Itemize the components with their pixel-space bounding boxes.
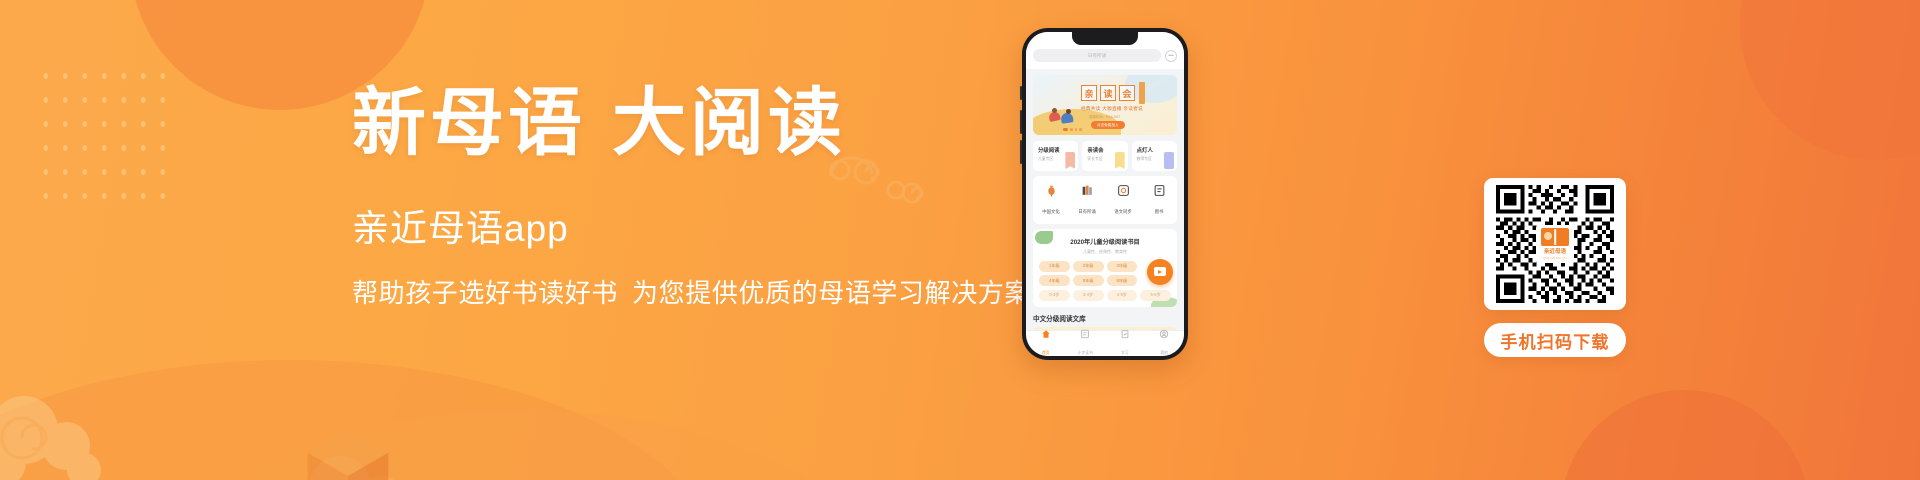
decorative-dot-grid — [36, 64, 174, 212]
grade-tag[interactable]: 1年级 — [1039, 261, 1070, 272]
search-bar[interactable]: 日有所诵 ••• — [1033, 49, 1177, 62]
age-tag[interactable]: 3-4岁 — [1073, 290, 1104, 301]
booklist-subtitle: 儿童性、经典性、教育性 — [1039, 249, 1171, 255]
promo-title-char-1: 读 — [1100, 85, 1116, 101]
qr-code[interactable]: 亲近母语 QIN JIN MU YU — [1491, 185, 1619, 303]
tab-study[interactable]: 学习 — [1105, 328, 1145, 356]
promo-title-char-0: 亲 — [1081, 85, 1097, 101]
bookmark-icon — [1115, 152, 1125, 169]
search-input[interactable]: 日有所诵 — [1033, 49, 1161, 62]
tab-profile[interactable]: 我的 — [1145, 328, 1185, 356]
phone-mockup: 日有所诵 ••• 亲 读 会 经典共读 大咖直播 亲读者说 直播时间：9/ — [1022, 28, 1188, 360]
grade-tag[interactable]: 2年级 — [1073, 261, 1104, 272]
grade-tag[interactable]: 6年级 — [1107, 275, 1138, 286]
grade-tag[interactable]: 4年级 — [1039, 275, 1070, 286]
tagline-part-2: 为您提供优质的母语学习解决方案 — [632, 278, 1031, 308]
book-icon — [1152, 183, 1166, 197]
promo-subtitle: 经典共读 大咖直播 亲读者说 — [1081, 106, 1143, 112]
decorative-leaf — [1035, 231, 1053, 244]
phone-notch — [1072, 32, 1138, 45]
quick-link-label: 中国文化 — [1042, 209, 1060, 214]
age-tag[interactable]: 4-5岁 — [1107, 290, 1138, 301]
video-play-icon[interactable] — [1147, 259, 1173, 285]
download-button[interactable]: 手机扫码下载 — [1484, 323, 1626, 357]
quick-link-chinese-culture[interactable]: 中国文化 — [1033, 183, 1069, 218]
promo-child-head-2 — [1066, 109, 1071, 114]
quick-links: 中国文化 日有所诵 — [1033, 176, 1177, 224]
decorative-circle-bottom-right — [1560, 390, 1810, 480]
tab-label: 我的 — [1160, 351, 1168, 355]
more-dots-icon[interactable]: ••• — [1165, 50, 1177, 62]
phone-volume-down — [1020, 140, 1022, 164]
tab-label: 小步读书 — [1078, 351, 1093, 355]
age-tag[interactable]: 5-6岁 — [1140, 290, 1171, 301]
category-card-reading-club[interactable]: 亲读会 家长专区 — [1082, 141, 1127, 171]
qr-logo-name: 亲近母语 — [1544, 247, 1566, 255]
quick-link-label: 日有所诵 — [1078, 209, 1096, 214]
qr-section: 亲近母语 QIN JIN MU YU 手机扫码下载 — [1484, 178, 1626, 357]
sync-icon — [1116, 183, 1130, 197]
headline-part-2: 大阅读 — [612, 83, 846, 165]
promo-banner: 新母语大阅读 亲近母语app 帮助孩子选好书读好书为您提供优质的母语学习解决方案… — [0, 0, 1920, 480]
tab-label: 首页 — [1042, 351, 1050, 355]
qr-card: 亲近母语 QIN JIN MU YU — [1484, 178, 1626, 310]
banner-copy: 新母语大阅读 亲近母语app 帮助孩子选好书读好书为您提供优质的母语学习解决方案 — [352, 86, 1052, 311]
banner-tagline: 帮助孩子选好书读好书为您提供优质的母语学习解决方案 — [352, 277, 1052, 311]
quick-link-textbook-sync[interactable]: 语文同步 — [1105, 183, 1141, 218]
qr-logo-pinyin: QIN JIN MU YU — [1543, 256, 1567, 260]
library-section-title: 中文分级阅读文库 — [1033, 313, 1177, 323]
decorative-circle-top-right — [1740, 0, 1920, 160]
promo-date: 直播时间：9/16-9/27 — [1089, 114, 1120, 119]
decorative-cube — [300, 422, 396, 480]
banner-subtitle: 亲近母语app — [352, 207, 1052, 251]
tab-reading[interactable]: 小步读书 — [1066, 328, 1106, 356]
tab-home[interactable]: 首页 — [1026, 328, 1066, 356]
phone-volume-up — [1020, 110, 1022, 134]
clipboard-icon — [1119, 328, 1130, 339]
app-promo-banner[interactable]: 亲 读 会 经典共读 大咖直播 亲读者说 直播时间：9/16-9/27 点击免费… — [1033, 75, 1177, 135]
promo-child-head-1 — [1052, 108, 1057, 113]
grade-tag[interactable]: 5年级 — [1073, 275, 1104, 286]
bookmark-icon — [1065, 152, 1075, 169]
promo-join-button[interactable]: 点击免费加入 — [1091, 121, 1125, 129]
books-icon — [1080, 183, 1094, 197]
phone-mute-switch — [1020, 86, 1022, 100]
list-icon — [1080, 328, 1091, 339]
phone-screen: 日有所诵 ••• 亲 读 会 经典共读 大咖直播 亲读者说 直播时间：9/ — [1026, 32, 1184, 356]
quick-link-books[interactable]: 图书 — [1141, 183, 1177, 218]
page-title: 新母语大阅读 — [352, 86, 1052, 163]
quick-link-label: 图书 — [1155, 209, 1164, 214]
tagline-part-1: 帮助孩子选好书读好书 — [352, 278, 618, 308]
promo-carousel-dots[interactable] — [1063, 128, 1082, 131]
quick-link-daily-recitation[interactable]: 日有所诵 — [1069, 183, 1105, 218]
category-card-lamplighter[interactable]: 点灯人 教师专区 — [1132, 141, 1177, 171]
qr-center-logo: 亲近母语 QIN JIN MU YU — [1536, 225, 1574, 263]
book-logo-icon — [1541, 228, 1569, 246]
promo-title: 亲 读 会 — [1081, 85, 1135, 101]
headline-part-1: 新母语 — [352, 83, 586, 165]
quick-link-label: 语文同步 — [1114, 209, 1132, 214]
home-icon — [1040, 328, 1051, 339]
booklist-grade-grid: 1年级 2年级 3年级 4年级 5年级 6年级 0-3岁 3-4岁 4-5岁 5… — [1039, 261, 1171, 301]
booklist-title: 2020年儿童分级阅读书目 — [1039, 237, 1171, 246]
category-cards: 分级阅读 儿童专区 亲读会 家长专区 点灯人 教师专区 — [1033, 141, 1177, 171]
person-icon — [1164, 152, 1174, 169]
app-tabbar: 首页 小步读书 学习 — [1026, 330, 1184, 356]
tab-label: 学习 — [1121, 351, 1129, 355]
grade-tag[interactable]: 3年级 — [1107, 261, 1138, 272]
category-card-graded-reading[interactable]: 分级阅读 儿童专区 — [1033, 141, 1078, 171]
user-icon — [1159, 328, 1170, 339]
lantern-icon — [1044, 183, 1058, 197]
age-tag[interactable]: 0-3岁 — [1039, 290, 1070, 301]
booklist-section: 2020年儿童分级阅读书目 儿童性、经典性、教育性 1年级 2年级 3年级 4年… — [1033, 229, 1177, 307]
promo-flag — [1139, 82, 1145, 104]
promo-title-char-2: 会 — [1119, 85, 1135, 101]
